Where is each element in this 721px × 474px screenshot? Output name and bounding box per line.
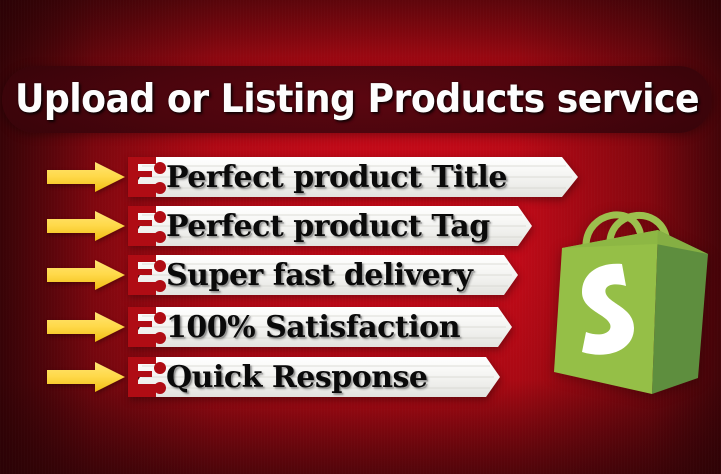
feature-label: Quick Response xyxy=(166,355,428,399)
feature-banner: Perfect product Title xyxy=(126,155,588,199)
page-title: Upload or Listing Products service xyxy=(27,66,687,133)
feature-banner: Quick Response xyxy=(126,355,510,399)
shopify-bag-logo xyxy=(548,196,718,396)
feature-banner: Super fast delivery xyxy=(126,253,528,297)
arrow-right-icon xyxy=(47,312,125,342)
arrow-right-icon xyxy=(47,211,125,241)
feature-label: Perfect product Tag xyxy=(166,204,490,248)
promo-graphic: Upload or Listing Products service xyxy=(0,0,721,474)
feature-label: Perfect product Title xyxy=(166,155,507,199)
feature-label: 100% Satisfaction xyxy=(166,305,460,349)
feature-banner: 100% Satisfaction xyxy=(126,305,522,349)
arrow-right-icon xyxy=(47,260,125,290)
arrow-right-icon xyxy=(47,362,125,392)
feature-banner: Perfect product Tag xyxy=(126,204,542,248)
arrow-right-icon xyxy=(47,162,125,192)
feature-label: Super fast delivery xyxy=(166,253,472,297)
